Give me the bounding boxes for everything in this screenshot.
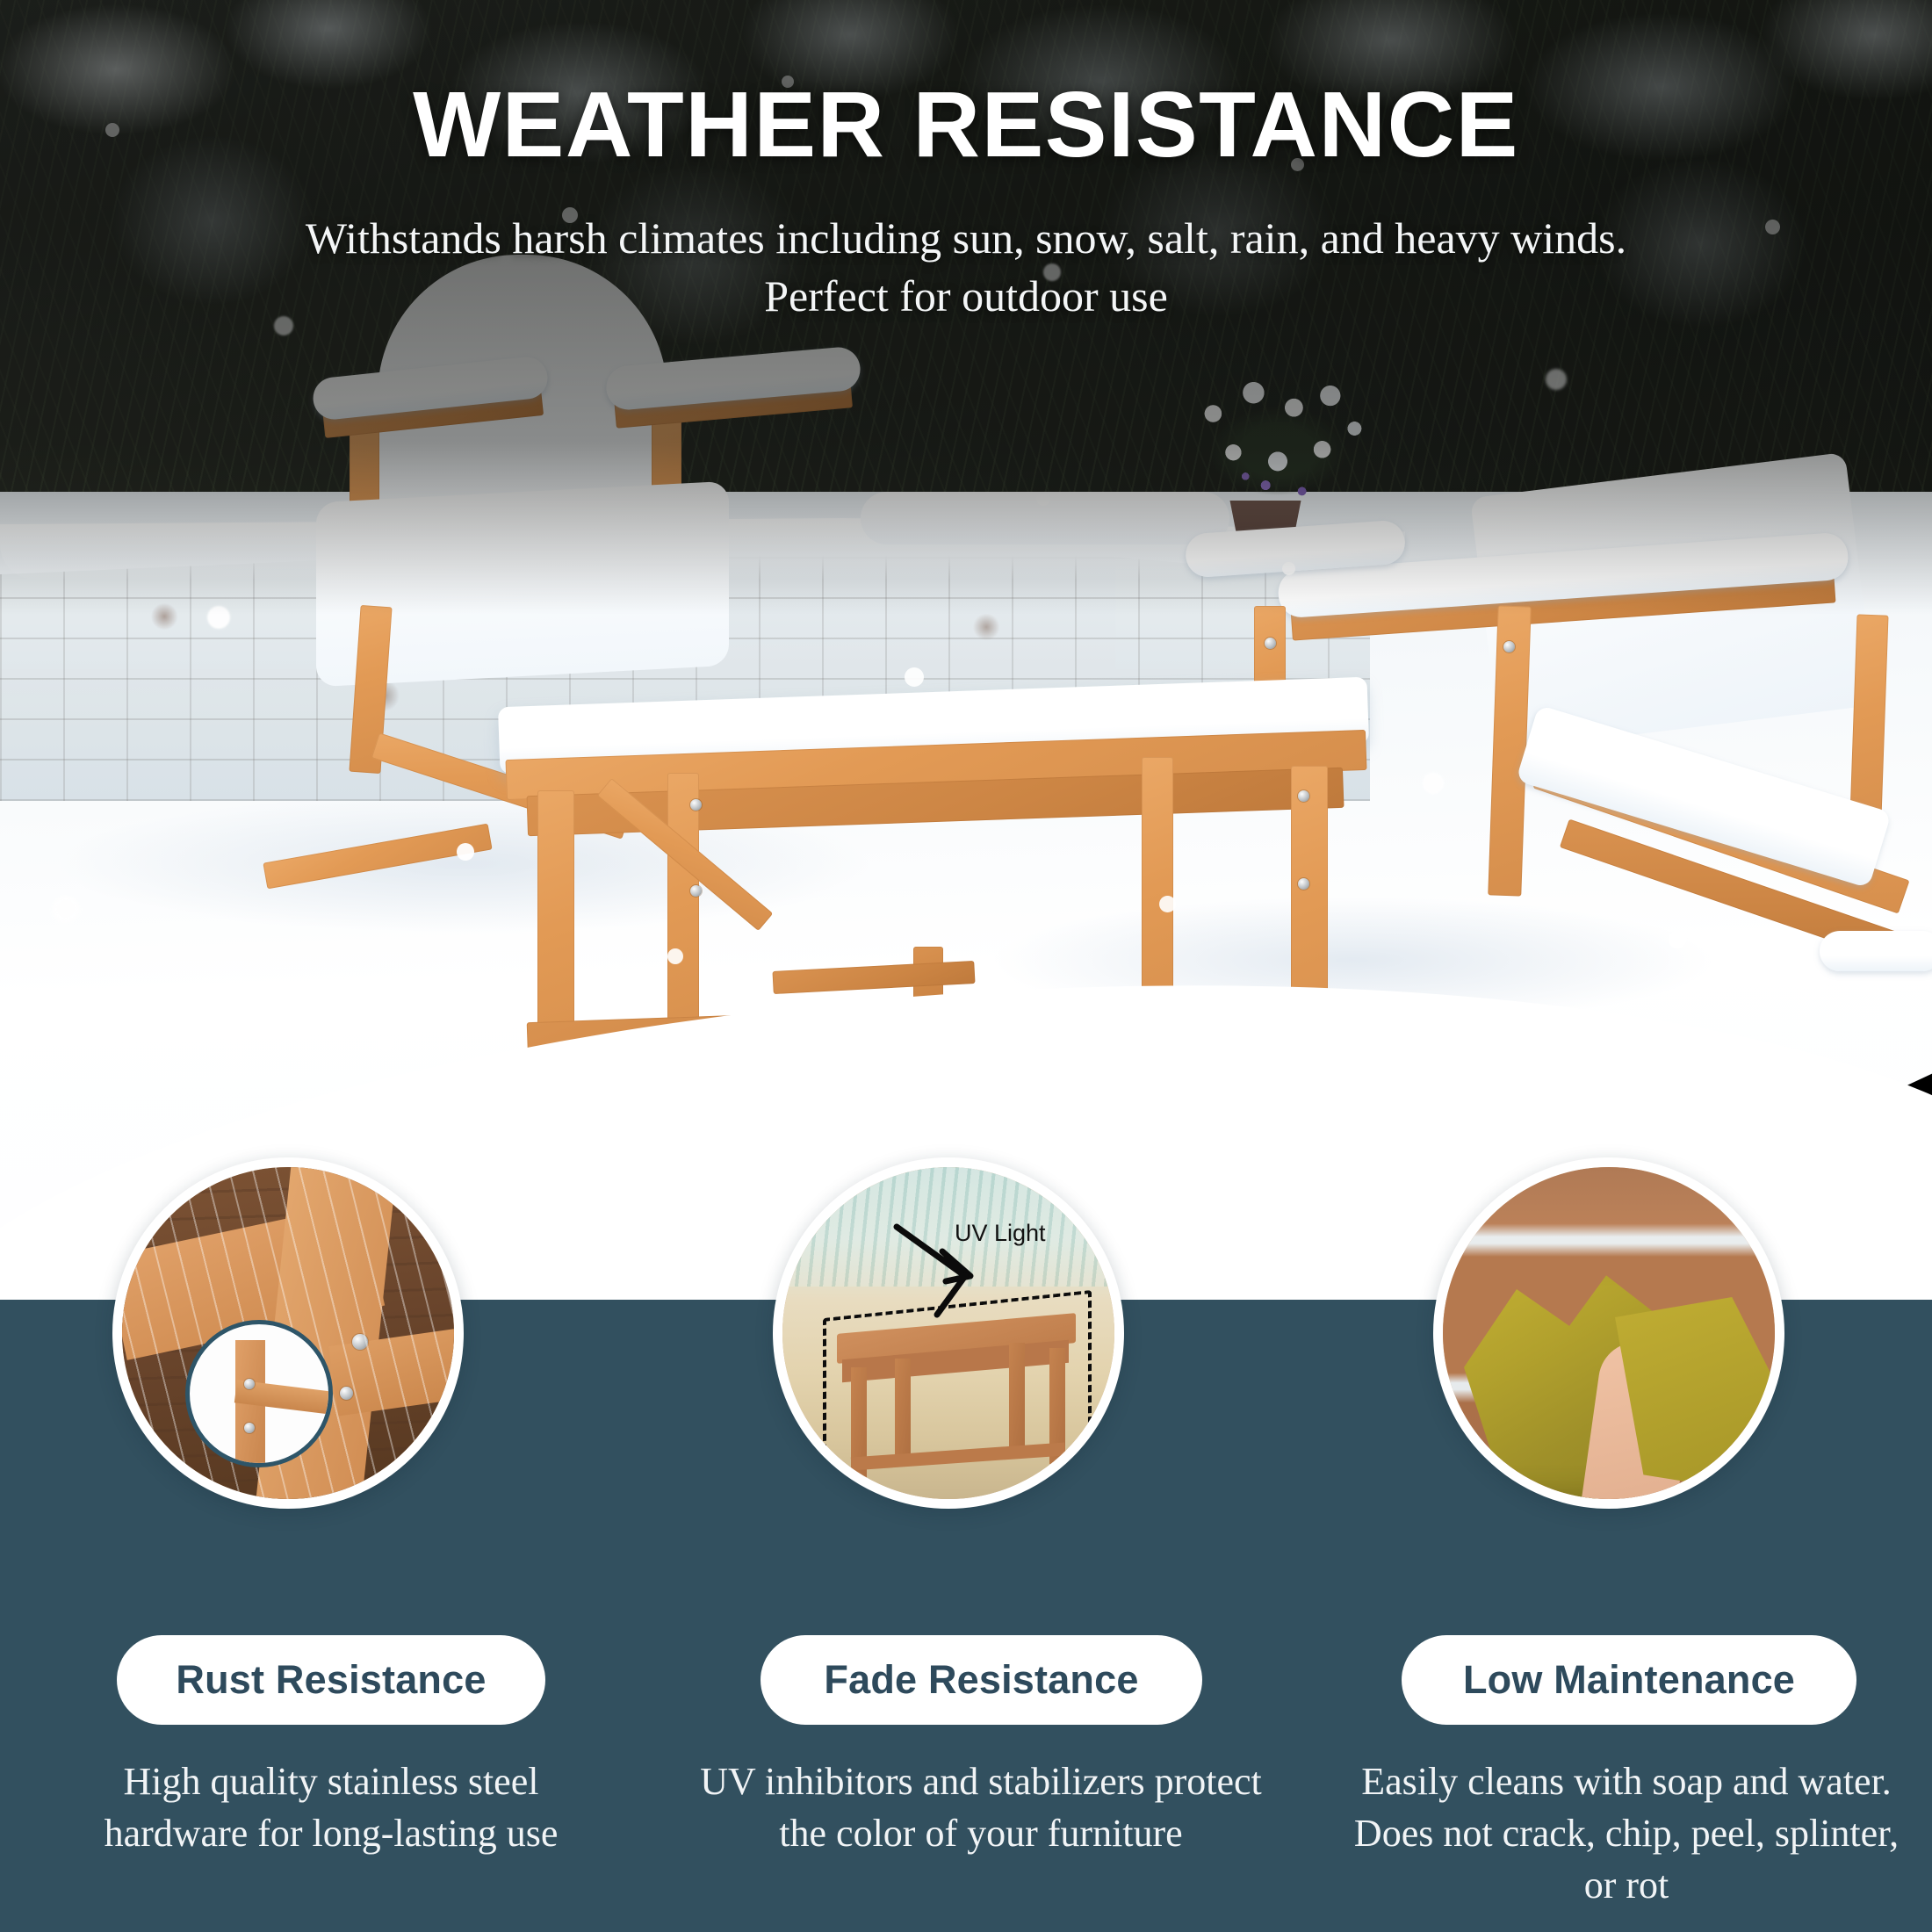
feature-pill-fade[interactable]: Fade Resistance <box>761 1635 1202 1725</box>
uv-light-label: UV Light <box>955 1220 1046 1247</box>
hero-photo-snow-scene <box>0 0 1932 1300</box>
screw-icon <box>1265 638 1276 649</box>
snowflake <box>667 948 683 964</box>
screw-icon <box>690 885 702 897</box>
bench-leg-rear-right <box>1009 1343 1025 1448</box>
snowflake <box>1669 931 1686 948</box>
screw-icon <box>1298 878 1309 890</box>
page-subtitle: Withstands harsh climates including sun,… <box>263 209 1669 325</box>
feature-description-clean: Easily cleans with soap and water. Does … <box>1345 1756 1907 1912</box>
snowflake <box>905 667 924 687</box>
feature-image-fade: UV Light <box>773 1157 1124 1509</box>
snowflake <box>53 896 79 922</box>
feature-description-fade: UV inhibitors and stabilizers protect th… <box>700 1756 1262 1860</box>
bench-leg-rear-left <box>895 1359 911 1462</box>
screw-icon <box>1503 641 1515 652</box>
screw-icon <box>1298 790 1309 802</box>
snowflake <box>457 843 474 861</box>
screw-icon <box>244 1379 255 1389</box>
feature-image-clean <box>1433 1157 1784 1509</box>
screw-icon <box>244 1423 255 1433</box>
snowflake <box>1159 896 1176 912</box>
feature-pill-clean[interactable]: Low Maintenance <box>1402 1635 1856 1725</box>
right-chair-foot-snow <box>1820 931 1932 971</box>
zoom-detail-inset <box>185 1320 333 1467</box>
feature-pill-rust[interactable]: Rust Resistance <box>117 1635 545 1725</box>
page-title: WEATHER RESISTANCE <box>0 72 1932 178</box>
feature-image-rust <box>112 1157 464 1509</box>
screw-icon <box>690 799 702 811</box>
infographic-root: WEATHER RESISTANCE Withstands harsh clim… <box>0 0 1932 1932</box>
snowflake <box>1423 773 1444 794</box>
feature-description-rust: High quality stainless steel hardware fo… <box>50 1756 612 1860</box>
snowflake <box>378 1036 393 1051</box>
